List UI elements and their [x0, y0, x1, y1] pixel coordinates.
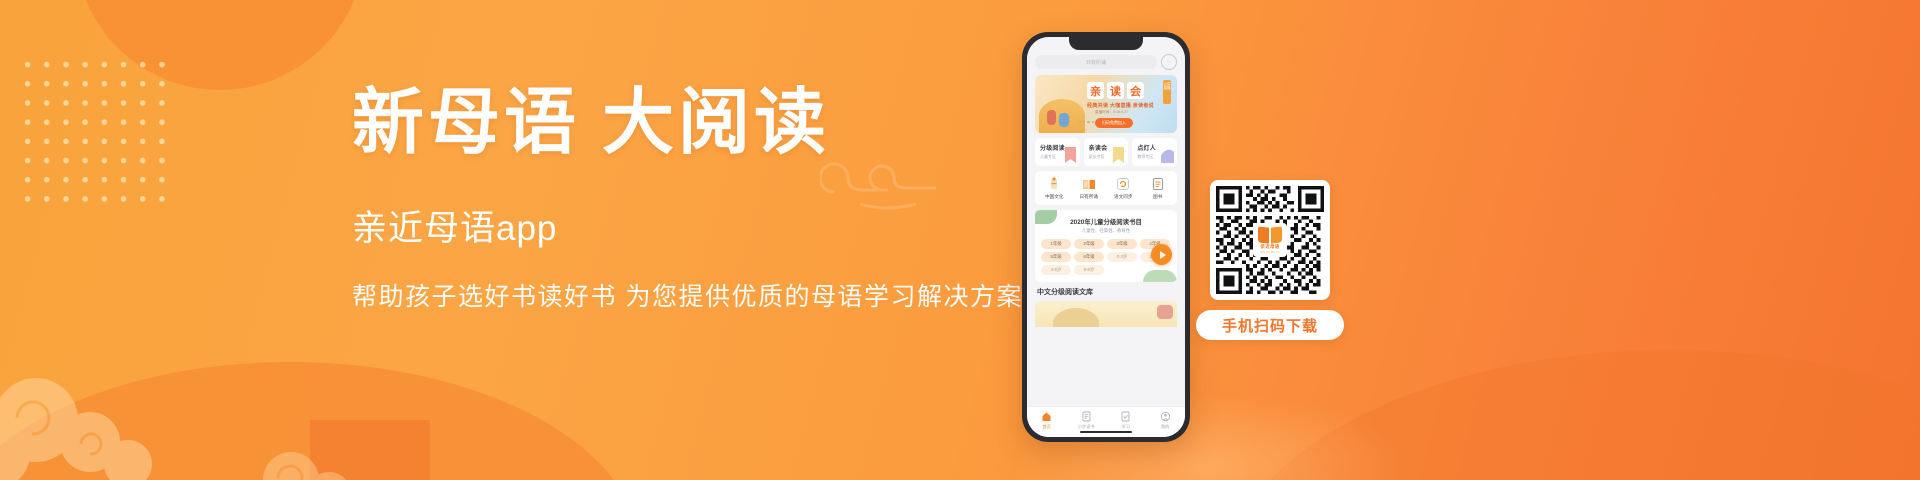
- hero-char-1: 亲: [1087, 82, 1104, 99]
- grade-chip[interactable]: 2年级: [1074, 239, 1104, 249]
- page-title: 新母语 大阅读: [352, 86, 1012, 162]
- hero-child-right: [1059, 113, 1069, 127]
- phone-notch: [1069, 37, 1143, 50]
- quick-icon-label: 日有所诵: [1080, 194, 1098, 200]
- play-video-icon[interactable]: [1151, 244, 1172, 265]
- hero-char-2: 读: [1107, 82, 1124, 99]
- quick-icon-books[interactable]: 图书: [1141, 177, 1175, 200]
- bookmark-purple-icon: [1160, 146, 1175, 164]
- quick-icon-label: 中国文化: [1045, 194, 1063, 200]
- qr-code[interactable]: 亲近母语 QIN JIN MU YU: [1210, 180, 1330, 300]
- booklist-subtitle: 儿童性、经典性、教育性: [1041, 228, 1171, 234]
- search-bar: 日有所诵 ···: [1035, 54, 1177, 70]
- home-indicator: [1080, 431, 1132, 434]
- decorative-dot-grid: [18, 55, 174, 207]
- tab-label: 首页: [1043, 424, 1051, 430]
- app-screen: 日有所诵 ··· 亲 读 会 公益直播 经典共读 大咖直播 亲读者说 直播时间：…: [1027, 37, 1185, 437]
- category-card-teacher[interactable]: 点灯人 教师专区: [1132, 138, 1177, 166]
- home-icon: [1041, 411, 1052, 422]
- tab-home[interactable]: 首页: [1030, 411, 1064, 430]
- tab-study[interactable]: 学习: [1109, 411, 1143, 430]
- quick-icon-row: 中国文化 日有所诵: [1035, 171, 1177, 205]
- sync-icon: [1116, 177, 1130, 191]
- booklist-title: 2020年儿童分级阅读书目: [1041, 217, 1171, 226]
- book-icon: [1151, 177, 1165, 191]
- user-icon: [1160, 411, 1171, 422]
- booklist-card[interactable]: 2020年儿童分级阅读书目 儿童性、经典性、教育性 1年级 2年级 3年级 4年…: [1035, 210, 1177, 282]
- hero-title: 亲 读 会: [1087, 82, 1144, 99]
- qr-block: 亲近母语 QIN JIN MU YU: [1210, 180, 1330, 300]
- bookmark-yellow-icon: [1111, 146, 1126, 164]
- tab-reading[interactable]: 小步读书: [1069, 411, 1103, 430]
- tab-label: 我的: [1161, 424, 1169, 430]
- tab-profile[interactable]: 我的: [1148, 411, 1182, 430]
- phone-mockup: 日有所诵 ··· 亲 读 会 公益直播 经典共读 大咖直播 亲读者说 直播时间：…: [1022, 32, 1190, 442]
- library-arc-decor: [1053, 308, 1099, 327]
- search-input[interactable]: 日有所诵: [1035, 55, 1157, 69]
- hero-banner-card[interactable]: 亲 读 会 公益直播 经典共读 大咖直播 亲读者说 直播时间：9.16-9.27…: [1035, 75, 1177, 133]
- hero-join-button[interactable]: 扫码免费加入: [1095, 118, 1133, 128]
- hero-flag-badge: 公益直播: [1163, 80, 1171, 104]
- hero-subtitle: 经典共读 大咖直播 亲读者说: [1087, 102, 1154, 109]
- qr-center-logo: 亲近母语 QIN JIN MU YU: [1253, 223, 1287, 257]
- list-icon: [1081, 411, 1092, 422]
- quick-icon-culture[interactable]: 中国文化: [1037, 177, 1071, 200]
- open-book-icon: [1082, 177, 1096, 191]
- tab-label: 学习: [1122, 424, 1130, 430]
- grade-chip[interactable]: 5年级: [1041, 252, 1071, 262]
- quick-icon-sync[interactable]: 语文同步: [1106, 177, 1140, 200]
- carousel-dots[interactable]: [1079, 121, 1094, 123]
- grade-chip[interactable]: 1年级: [1041, 239, 1071, 249]
- age-chip[interactable]: 4-5岁: [1041, 265, 1071, 275]
- cloud-small-icon: [255, 430, 375, 480]
- grade-chip[interactable]: 3年级: [1107, 239, 1137, 249]
- app-name-subtitle: 亲近母语app: [352, 200, 1012, 251]
- book-logo-icon: [1258, 227, 1282, 243]
- message-icon[interactable]: ···: [1161, 54, 1177, 70]
- scroll-icon: [1047, 177, 1061, 191]
- category-card-parent-club[interactable]: 亲读会 家长专区: [1084, 138, 1129, 166]
- qr-logo-en: QIN JIN MU YU: [1260, 251, 1279, 254]
- library-thumb-decor: [1157, 305, 1173, 319]
- library-section-title: 中文分级阅读文库: [1037, 287, 1175, 297]
- hero-char-3: 会: [1127, 82, 1144, 99]
- quick-icon-daily-recite[interactable]: 日有所诵: [1072, 177, 1106, 200]
- quick-icon-label: 语文同步: [1114, 194, 1132, 200]
- bookmark-red-icon: [1063, 146, 1078, 164]
- grade-chip[interactable]: 6年级: [1074, 252, 1104, 262]
- cloud-swirl-icon: [0, 368, 188, 480]
- tagline: 帮助孩子选好书读好书 为您提供优质的母语学习解决方案: [352, 277, 1012, 313]
- age-chip[interactable]: 0-3岁: [1107, 252, 1137, 262]
- category-cards: 分级阅读 儿童专区 亲读会 家长专区 点灯人: [1035, 138, 1177, 166]
- library-preview-card[interactable]: [1035, 301, 1177, 327]
- hero-child-left: [1047, 110, 1056, 125]
- age-chip[interactable]: 5-6岁: [1074, 265, 1104, 275]
- check-icon: [1120, 411, 1131, 422]
- copy-block: 新母语 大阅读 亲近母语app 帮助孩子选好书读好书 为您提供优质的母语学习解决…: [352, 86, 1012, 313]
- category-card-graded-reading[interactable]: 分级阅读 儿童专区: [1035, 138, 1080, 166]
- promo-banner: 新母语 大阅读 亲近母语app 帮助孩子选好书读好书 为您提供优质的母语学习解决…: [0, 0, 1920, 480]
- download-button[interactable]: 手机扫码下载: [1196, 310, 1344, 340]
- qr-logo-name: 亲近母语: [1260, 244, 1279, 250]
- hero-schedule: 直播时间：9.16-9.27: [1095, 110, 1128, 115]
- tab-label: 小步读书: [1078, 424, 1095, 430]
- quick-icon-label: 图书: [1153, 194, 1162, 200]
- phone-screen-frame: 日有所诵 ··· 亲 读 会 公益直播 经典共读 大咖直播 亲读者说 直播时间：…: [1027, 37, 1185, 437]
